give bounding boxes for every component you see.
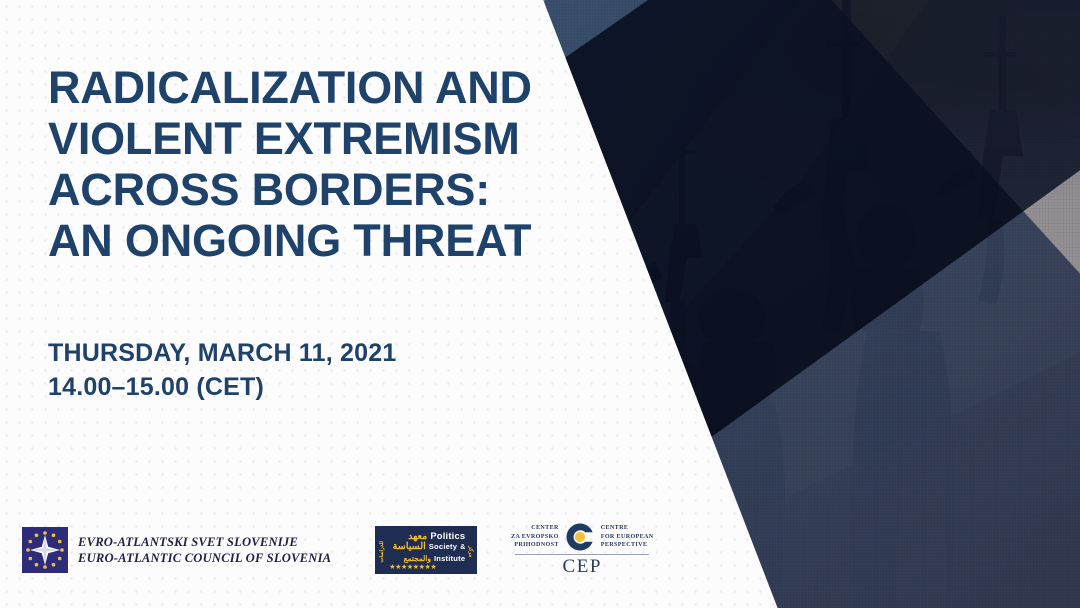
title-line-4: AN ONGOING THREAT bbox=[48, 215, 588, 266]
logo-politics-and-society-institute[interactable]: للدراسات معهد Politics السياسة Society & bbox=[375, 526, 477, 574]
cep-c-monogram-icon bbox=[565, 522, 595, 552]
psi-en-2: Society bbox=[429, 542, 457, 553]
cep-acronym: CEP bbox=[511, 556, 653, 578]
psi-vertical-right: مركز bbox=[467, 546, 473, 557]
psi-ampersand: & bbox=[460, 543, 465, 554]
rifle-silhouette-4 bbox=[937, 16, 1023, 304]
logo-centre-for-european-perspective[interactable]: CENTER ZA EVROPSKO PRIHODNOST CENTRE FOR… bbox=[511, 522, 653, 578]
eacs-wordmark: EVRO-ATLANTSKI SVET SLOVENIJE EURO-ATLAN… bbox=[78, 534, 331, 566]
event-poster: RADICALIZATION AND VIOLENT EXTREMISM ACR… bbox=[0, 0, 1080, 608]
cep-sl-3: PRIHODNOST bbox=[511, 541, 559, 550]
content-area: RADICALIZATION AND VIOLENT EXTREMISM ACR… bbox=[0, 0, 620, 608]
cep-en-2: FOR EUROPEAN bbox=[601, 533, 654, 542]
psi-ar-3: والمجتمع bbox=[404, 554, 431, 565]
logo-euro-atlantic-council-of-slovenia[interactable]: EVRO-ATLANTSKI SVET SLOVENIJE EURO-ATLAN… bbox=[22, 527, 331, 573]
cep-divider bbox=[515, 554, 649, 555]
psi-stars-row: ★★★★★★★★ bbox=[387, 564, 465, 572]
psi-en-3: Institute bbox=[434, 554, 465, 565]
psi-ar-2: السياسة bbox=[393, 542, 426, 553]
event-time: 14.00–15.00 (CET) bbox=[48, 370, 396, 404]
title-line-1: RADICALIZATION AND bbox=[48, 62, 588, 113]
partner-logo-bar: EVRO-ATLANTSKI SVET SLOVENIJE EURO-ATLAN… bbox=[22, 516, 653, 584]
cep-text-slovene: CENTER ZA EVROPSKO PRIHODNOST bbox=[511, 524, 559, 550]
eacs-name-sl: EVRO-ATLANTSKI SVET SLOVENIJE bbox=[78, 534, 331, 550]
psi-en-1: Politics bbox=[430, 531, 465, 542]
cep-text-english: CENTRE FOR EUROPEAN PERSPECTIVE bbox=[601, 524, 654, 550]
title-line-2: VIOLENT EXTREMISM bbox=[48, 113, 588, 164]
nato-compass-star-icon bbox=[22, 527, 68, 573]
cep-en-3: PERSPECTIVE bbox=[601, 541, 654, 550]
cep-en-1: CENTRE bbox=[601, 524, 654, 533]
eacs-name-en: EURO-ATLANTIC COUNCIL OF SLOVENIA bbox=[78, 550, 331, 566]
psi-wordmark: معهد Politics السياسة Society & والمجتمع… bbox=[385, 531, 467, 573]
event-datetime: THURSDAY, MARCH 11, 2021 14.00–15.00 (CE… bbox=[48, 336, 396, 404]
event-date: THURSDAY, MARCH 11, 2021 bbox=[48, 336, 396, 370]
psi-vertical-left: للدراسات bbox=[379, 541, 385, 563]
page-title: RADICALIZATION AND VIOLENT EXTREMISM ACR… bbox=[48, 62, 588, 266]
psi-vert-ar: للدراسات bbox=[379, 541, 385, 563]
cep-sl-1: CENTER bbox=[511, 524, 559, 533]
cep-sl-2: ZA EVROPSKO bbox=[511, 533, 559, 542]
title-line-3: ACROSS BORDERS: bbox=[48, 164, 588, 215]
